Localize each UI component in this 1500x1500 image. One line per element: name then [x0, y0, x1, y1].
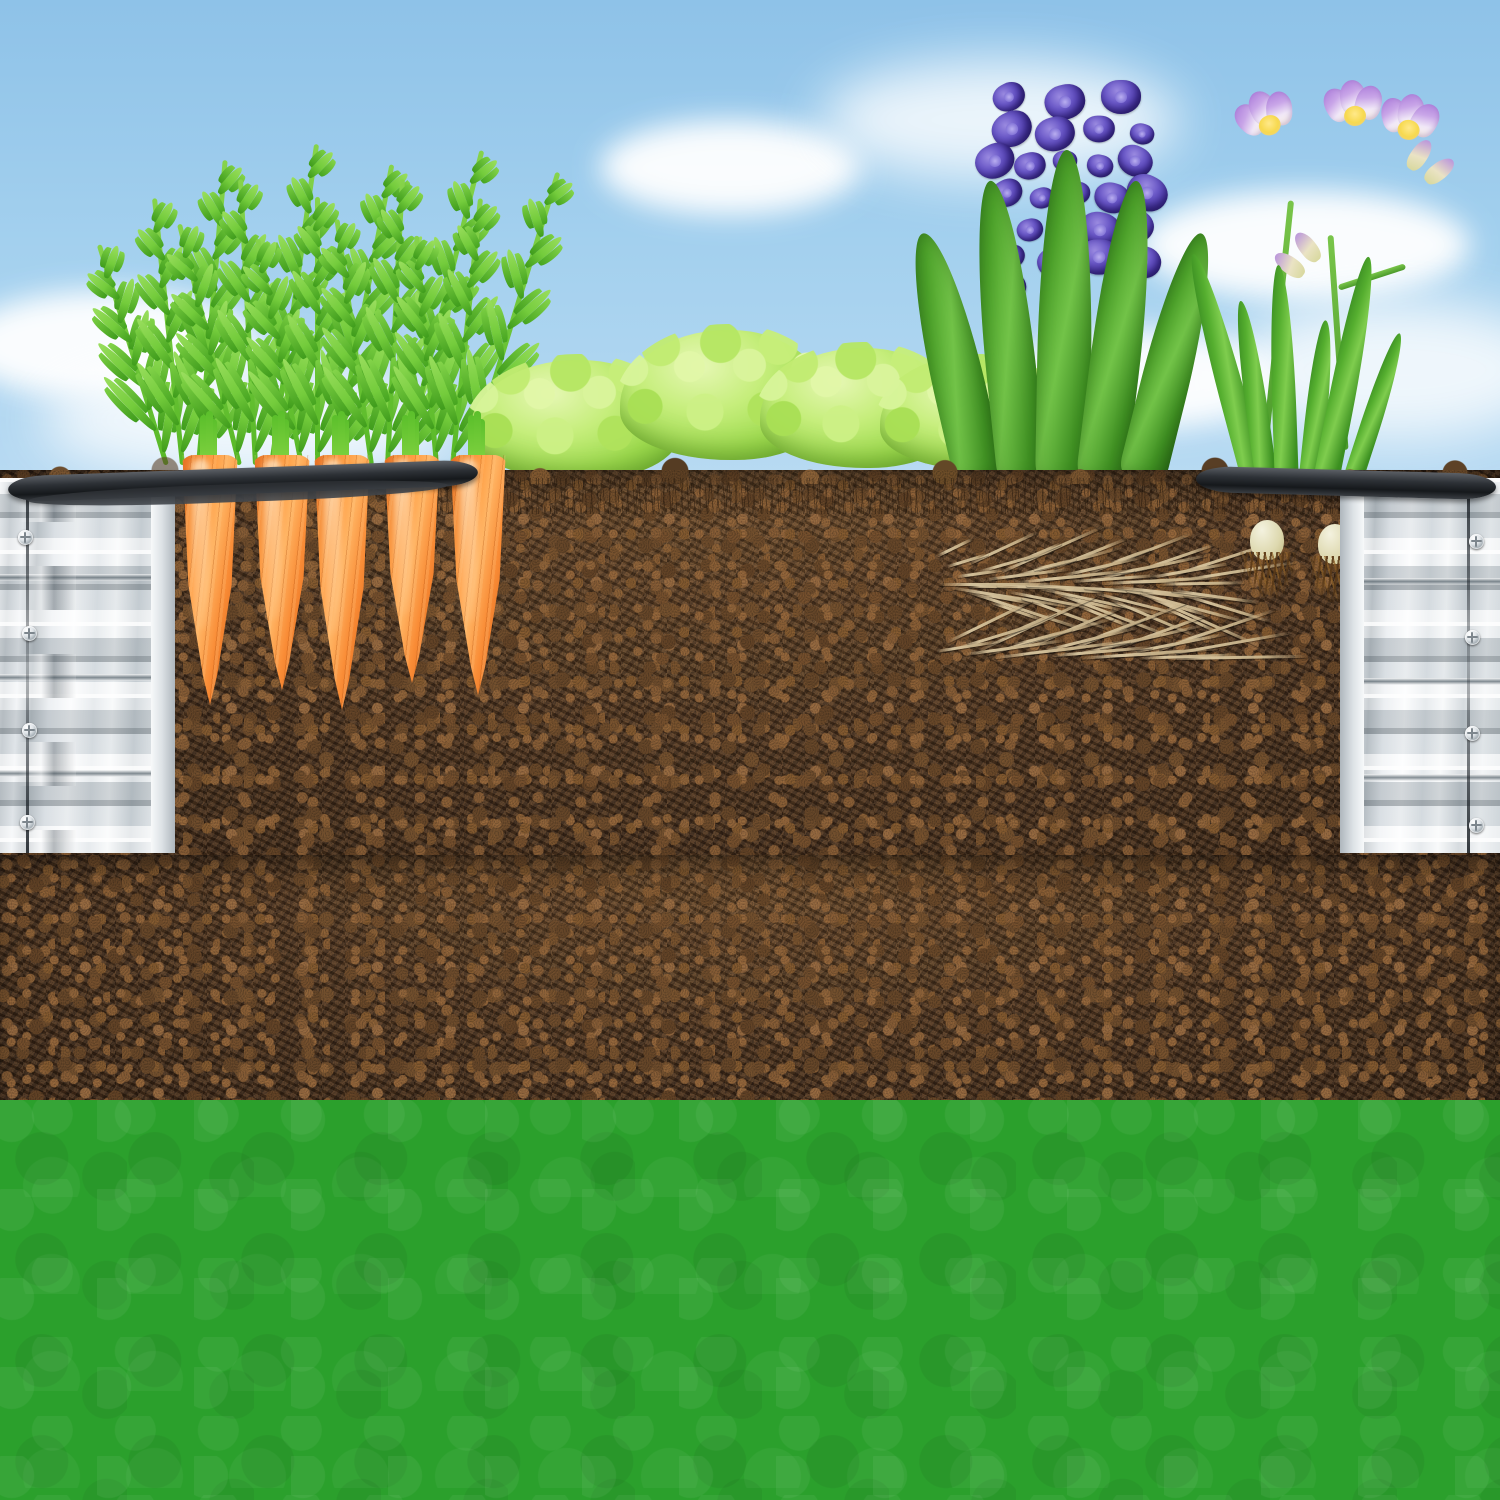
hyacinth-floret [1101, 80, 1141, 114]
freesia-corm [1238, 520, 1298, 598]
screw-icon [1465, 630, 1480, 645]
wall-cut-section [1340, 478, 1364, 853]
freesia-flower [1376, 90, 1445, 150]
freesia-plant [1215, 80, 1485, 480]
screw-icon [1465, 726, 1480, 741]
ground-soil [0, 855, 1500, 1100]
carrot-stem [206, 411, 213, 461]
hyacinth-floret [1011, 149, 1048, 183]
raised-bed-panel-left [0, 478, 175, 853]
garden-bed-scene [0, 0, 1500, 1100]
carrot-stem [278, 411, 285, 461]
hyacinth-plant [920, 80, 1220, 480]
freesia-stem [1338, 263, 1406, 290]
carrot-highlight [460, 459, 477, 623]
rib-band [1340, 678, 1500, 685]
hyacinth-floret [1127, 121, 1156, 147]
raised-bed-panel-right [1340, 478, 1500, 853]
product-feature-image: Open-Ended Base 1.Protect plant roots fr… [0, 0, 1500, 1500]
panel-seam [1467, 478, 1470, 853]
screw-icon [1469, 818, 1484, 833]
screw-icon [22, 626, 37, 641]
carrot [448, 455, 508, 695]
root-strand [936, 537, 973, 557]
soil-texture [0, 855, 1500, 1100]
hyacinth-root-ball [935, 540, 1225, 670]
carrot-stem [338, 411, 345, 461]
screw-icon [22, 723, 37, 738]
screw-icon [1469, 534, 1484, 549]
rib-band [1340, 578, 1500, 585]
carrot-stem [474, 411, 481, 461]
freesia-flower [1228, 80, 1305, 151]
rib-band [1340, 774, 1500, 781]
carrot-stem [408, 411, 415, 461]
benefits-banner: Open-Ended Base 1.Protect plant roots fr… [0, 1100, 1500, 1500]
carrot-rings [448, 455, 508, 695]
screw-icon [20, 815, 35, 830]
corm-roots [1240, 552, 1296, 598]
wall-cut-section [151, 478, 175, 853]
hyacinth-floret [1085, 152, 1116, 180]
hyacinth-floret [1032, 113, 1079, 156]
cloud [600, 120, 860, 215]
hyacinth-floret [1083, 116, 1115, 143]
hyacinth-floret [1014, 216, 1045, 244]
screw-icon [18, 530, 33, 545]
